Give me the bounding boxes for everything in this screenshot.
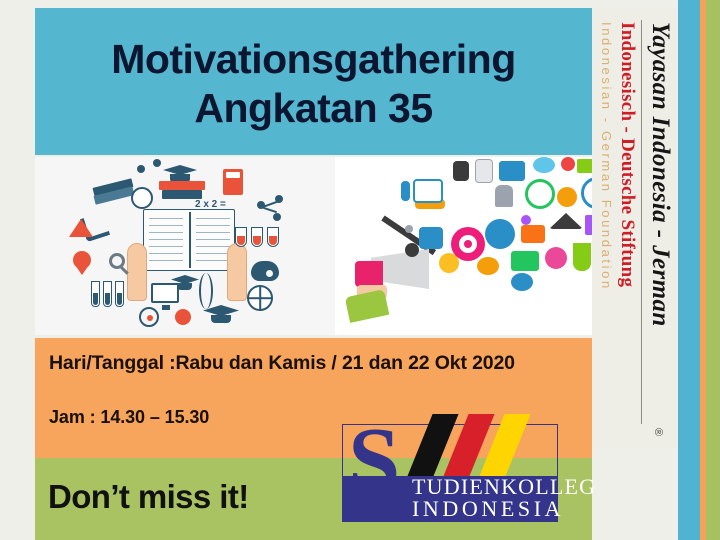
play-video-icon <box>499 161 525 181</box>
alarm-clock-icon <box>131 187 153 209</box>
test-tube-icon-2 <box>103 281 112 307</box>
lock-icon <box>453 161 469 181</box>
edge-stripe-decoration <box>678 0 720 540</box>
molecule-icon-4 <box>137 165 145 173</box>
flask-icon <box>235 227 247 247</box>
megaphone-artwork <box>335 157 592 335</box>
person-icon <box>401 181 410 201</box>
network-icon <box>545 247 567 269</box>
speech-bubble-icon <box>511 273 533 291</box>
megaphone-body-icon <box>355 261 383 287</box>
speech-dot-icon <box>521 215 531 225</box>
red-book-icon <box>159 181 205 190</box>
apple-icon <box>175 309 191 325</box>
poster-canvas: Motivationsgathering Angkatan 35 <box>0 0 720 540</box>
book-icon <box>413 179 443 203</box>
foundation-divider <box>641 20 642 424</box>
foundation-german-name: Indonesisch - Deutsche Stiftung <box>616 22 638 287</box>
edge-stripe-teal <box>678 0 700 540</box>
logo-wordmark-line-2: INDONESIA <box>412 496 564 522</box>
tagline-text: Don’t miss it! <box>48 478 249 516</box>
foundation-text-rotated: Yayasan Indonesia - Jerman Indonesisch -… <box>592 8 678 448</box>
left-hand-icon <box>127 243 147 301</box>
education-collage-artwork: 2 x 2 = <box>35 157 335 335</box>
blue-book-icon <box>162 190 202 199</box>
magnifier-icon <box>109 253 125 269</box>
right-hand-icon <box>227 243 247 301</box>
studienkolleg-logo: S TUDIENKOLLEG INDONESIA <box>336 418 561 528</box>
mail-icon <box>585 215 592 235</box>
foundation-sidebar: Yayasan Indonesia - Jerman Indonesisch -… <box>592 8 678 448</box>
globe-icon <box>485 219 515 249</box>
test-tube-icon-3 <box>115 281 124 307</box>
megaphone-icons-image <box>335 157 592 335</box>
dot-icon <box>405 225 413 233</box>
calculator-icon <box>223 169 243 195</box>
foundation-english-name: Indonesian - German Foundation <box>599 22 614 291</box>
registered-trademark-icon: ® <box>652 428 664 436</box>
envelope-icon <box>577 159 592 173</box>
globe-icon <box>247 285 273 311</box>
monitor-icon <box>151 283 179 303</box>
clock-icon <box>581 177 592 209</box>
document-icon <box>475 159 493 183</box>
math-equation-label: 2 x 2 = <box>195 199 226 210</box>
flask-icon-2 <box>251 227 263 247</box>
cursor-hand-icon <box>495 185 513 207</box>
page-title-line-1: Motivationsgathering <box>111 37 516 81</box>
people-icon <box>477 257 499 275</box>
graduation-cap-icon <box>549 213 583 229</box>
atom-icon <box>525 179 555 209</box>
atom-icon <box>139 307 159 327</box>
test-tube-icon <box>91 281 100 307</box>
page-title-line-2: Angkatan 35 <box>194 86 432 130</box>
gear-icon <box>405 243 419 257</box>
apple-icon <box>561 157 575 171</box>
title-banner: Motivationsgathering Angkatan 35 <box>35 8 592 155</box>
triangle-ruler-icon <box>69 219 93 237</box>
education-collage-image: 2 x 2 = <box>35 157 335 335</box>
thumbs-up-icon <box>557 187 577 207</box>
video-player-icon <box>511 251 539 271</box>
flask-icon-3 <box>267 227 279 247</box>
target-center-icon <box>464 240 472 248</box>
bar-chart-icon <box>419 227 443 249</box>
award-ribbon-icon <box>73 251 91 269</box>
event-date-text: Hari/Tanggal :Rabu dan Kamis / 21 dan 22… <box>49 352 592 375</box>
flask-icon <box>573 243 591 271</box>
logo-monogram: S <box>348 420 400 503</box>
paint-palette-icon <box>251 261 279 281</box>
sleeve-icon <box>345 289 390 323</box>
molecule-icon-3 <box>273 213 281 221</box>
chat-bubble-icon <box>521 225 545 243</box>
molecule-icon-5 <box>153 159 161 167</box>
images-row: 2 x 2 = <box>35 157 592 335</box>
dna-helix-icon <box>199 273 213 309</box>
open-book-icon <box>143 209 235 271</box>
cloud-icon <box>533 157 555 173</box>
edge-stripe-green <box>706 0 720 540</box>
foundation-script-name: Yayasan Indonesia - Jerman <box>646 22 674 422</box>
